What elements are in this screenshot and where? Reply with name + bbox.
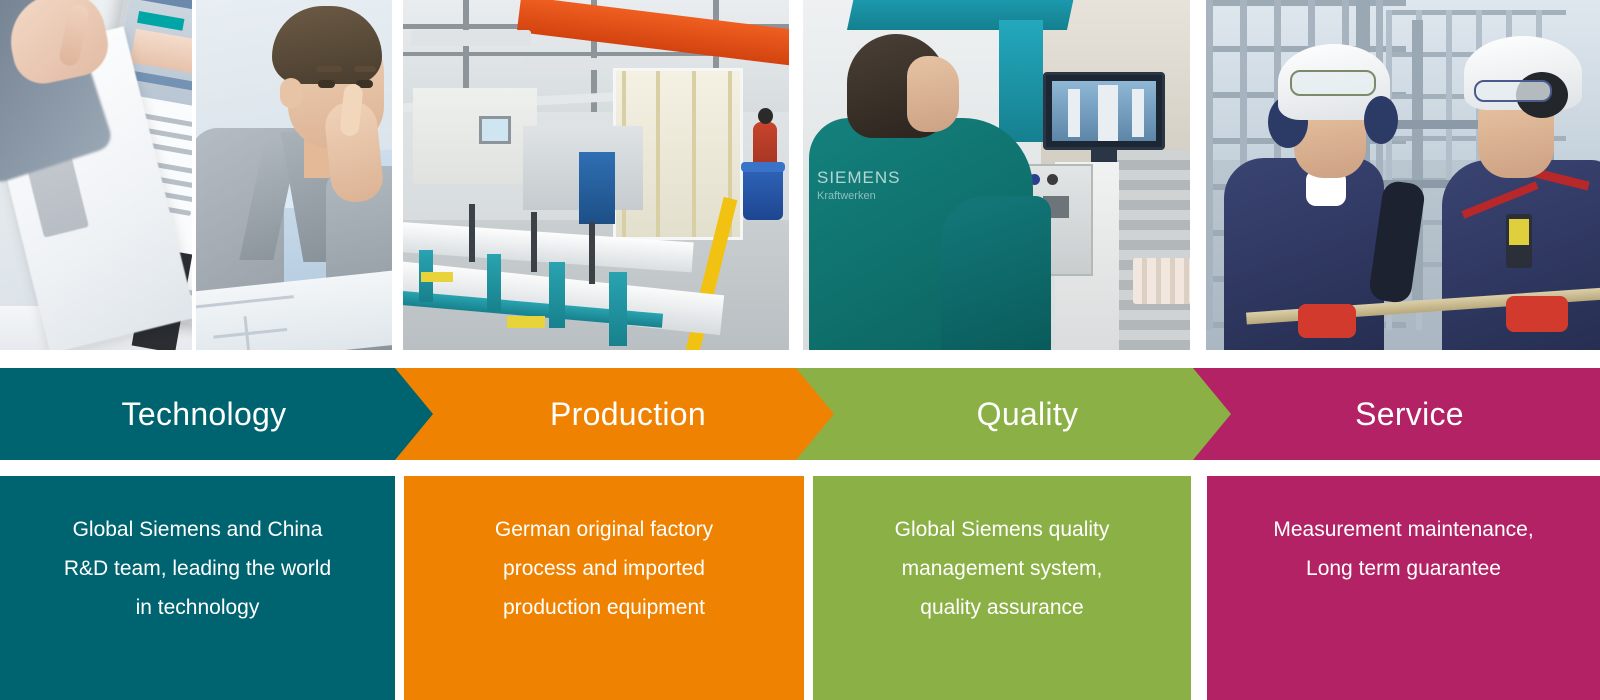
description-row: Global Siemens and China R&D team, leadi… [0,476,1600,700]
jacket-logo-primary: SIEMENS [817,168,901,188]
description-quality: Global Siemens quality management system… [813,476,1191,700]
chevron-label-production: Production [550,396,706,433]
chevron-label-technology: Technology [122,396,287,433]
process-chevron-band: Technology Production Quality Service [0,368,1600,460]
chevron-label-service: Service [1355,396,1464,433]
field-service-photo [1206,0,1600,350]
engineering-documents-photo [0,0,192,350]
description-text-production: German original factory process and impo… [495,510,713,627]
description-technology: Global Siemens and China R&D team, leadi… [0,476,395,700]
chevron-quality[interactable]: Quality [796,368,1233,460]
businessman-photo [196,0,392,350]
chevron-production[interactable]: Production [395,368,835,460]
description-service: Measurement maintenance, Long term guara… [1207,476,1600,700]
production-line-photo [403,0,789,350]
chevron-technology[interactable]: Technology [0,368,434,460]
infographic-page: SIEMENS Kraftwerken [0,0,1600,700]
description-text-quality: Global Siemens quality management system… [895,510,1110,627]
jacket-logo-secondary: Kraftwerken [817,190,876,202]
description-text-service: Measurement maintenance, Long term guara… [1273,510,1533,588]
description-production: German original factory process and impo… [404,476,804,700]
quality-inspection-photo: SIEMENS Kraftwerken [803,0,1190,350]
description-text-technology: Global Siemens and China R&D team, leadi… [64,510,331,627]
chevron-service[interactable]: Service [1193,368,1600,460]
photo-strip: SIEMENS Kraftwerken [0,0,1600,350]
chevron-label-quality: Quality [977,396,1079,433]
